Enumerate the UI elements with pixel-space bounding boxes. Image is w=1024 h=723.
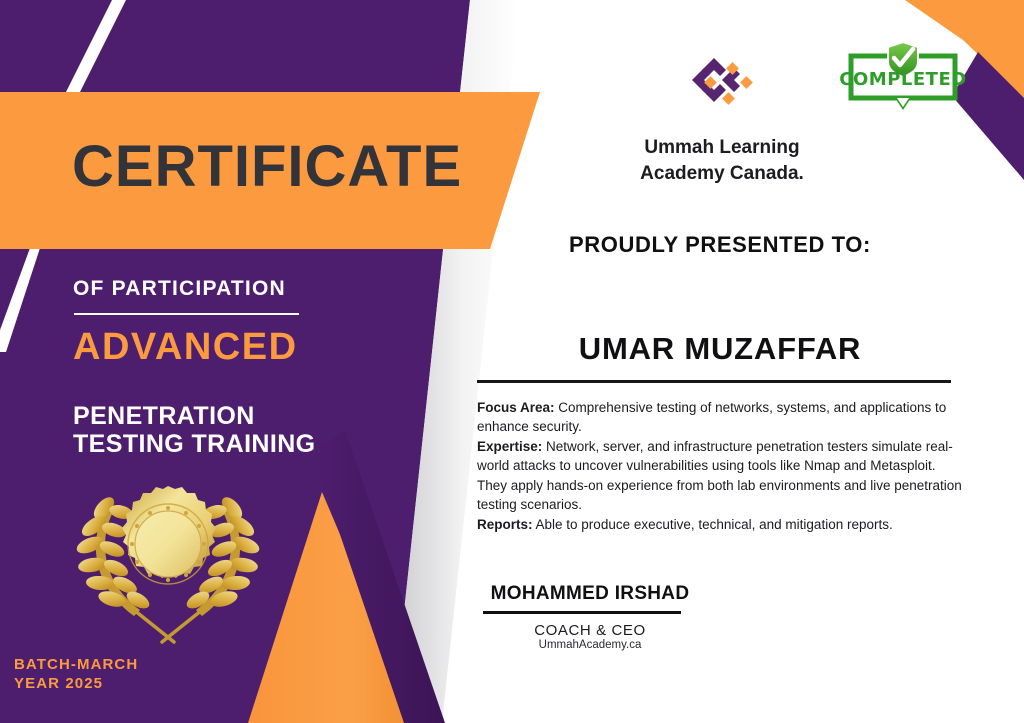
organization-name-line-2: Academy Canada. [560,161,884,187]
detail-text-reports: Able to produce executive, technical, an… [533,517,893,532]
recipient-divider [477,380,951,383]
completed-badge-graphic: COMPLETED [839,40,967,116]
recipient-name: UMAR MUZAFFAR [460,331,980,367]
detail-text-expertise: Network, server, and infrastructure pene… [477,439,962,512]
certificate-title: CERTIFICATE [72,133,462,200]
presented-to-heading: PROUDLY PRESENTED TO: [460,232,980,258]
course-title-line-1: PENETRATION [73,402,316,430]
detail-label-focus: Focus Area: [477,400,555,415]
laurel-wreath-seal-icon [48,482,288,652]
detail-label-reports: Reports: [477,517,533,532]
signer-name: MOHAMMED IRSHAD [450,583,730,605]
certificate-level: ADVANCED [73,326,298,369]
status-badge: COMPLETED [839,40,967,116]
signature-divider [483,611,681,614]
certificate-details: Focus Area: Comprehensive testing of net… [477,398,963,534]
subtitle-divider [74,313,299,315]
batch-info: BATCH-MARCH YEAR 2025 [14,656,138,694]
signer-role: COACH & CEO [450,622,730,639]
completed-badge-label: COMPLETED [839,69,966,90]
certificate-subtitle: OF PARTICIPATION [73,277,286,301]
certificate-document: CERTIFICATE OF PARTICIPATION ADVANCED PE… [0,0,1024,723]
organization-name: Ummah Learning Academy Canada. [560,135,884,186]
signer-website: UmmahAcademy.ca [450,639,730,651]
batch-year: YEAR 2025 [14,675,138,694]
course-title-line-2: TESTING TRAINING [73,430,316,458]
ummah-academy-diamond-logo-icon [676,52,768,126]
detail-label-expertise: Expertise: [477,439,542,454]
batch-month: BATCH-MARCH [14,656,138,675]
organization-name-line-1: Ummah Learning [560,135,884,161]
course-title: PENETRATION TESTING TRAINING [73,402,316,458]
